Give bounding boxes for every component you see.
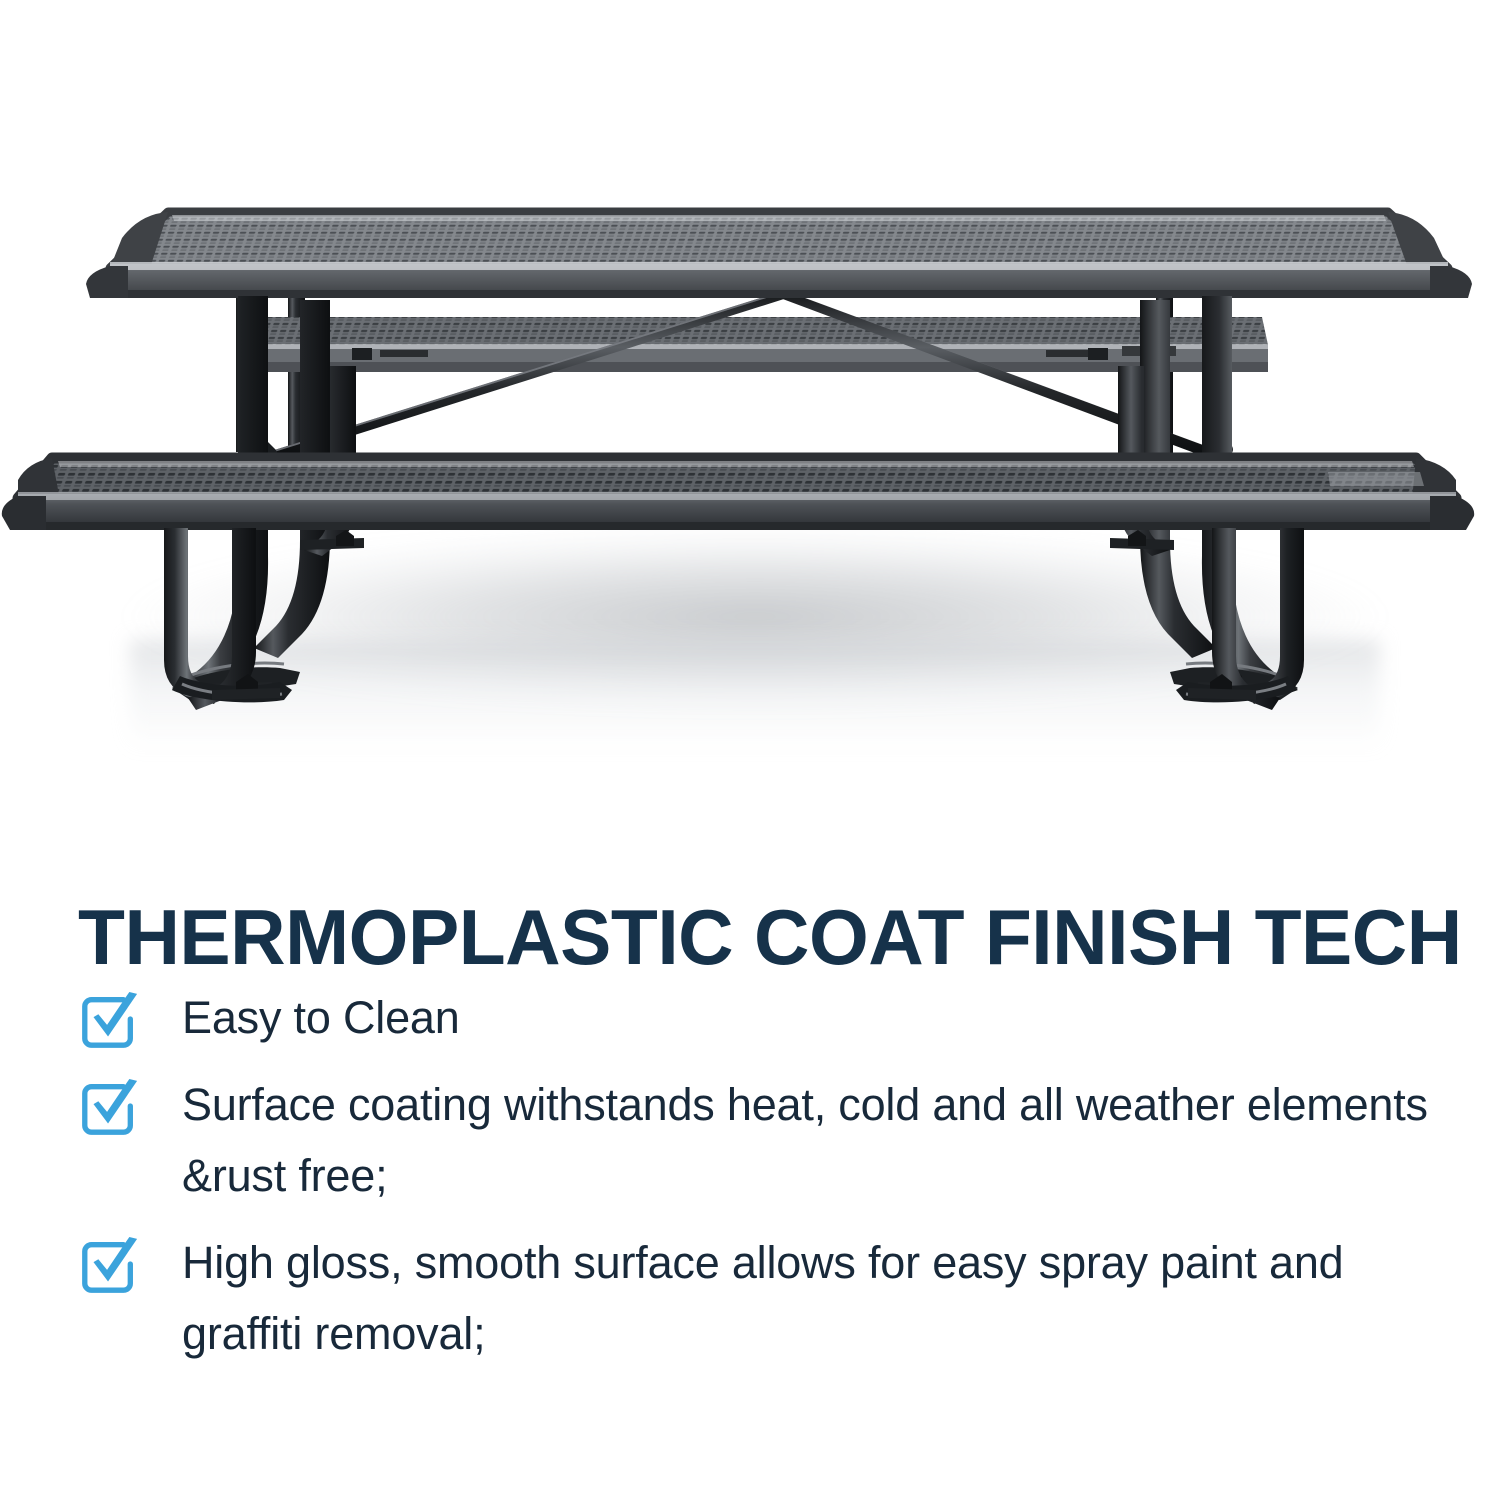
product-feature-page: THERMOPLASTIC COAT FINISH TECH Easy to C… xyxy=(0,0,1500,1500)
feature-check-cell xyxy=(78,1069,182,1139)
product-image-stage xyxy=(0,0,1500,820)
feature-check-cell xyxy=(78,982,182,1052)
checkbox-checked-icon xyxy=(78,1077,140,1139)
front-bench xyxy=(2,458,1474,530)
feature-item-2: Surface coating withstands heat, cold an… xyxy=(78,1069,1478,1211)
front-bench-legs xyxy=(164,528,1304,710)
picnic-table-illustration xyxy=(0,0,1500,820)
checkbox-checked-icon xyxy=(78,990,140,1052)
feature-item-3: High gloss, smooth surface allows for ea… xyxy=(78,1227,1478,1369)
feature-check-cell xyxy=(78,1227,182,1297)
feature-list: Easy to Clean Surface coating withstands… xyxy=(78,982,1478,1385)
cross-brace-assembly xyxy=(257,288,1233,460)
feature-text: Easy to Clean xyxy=(182,982,1472,1053)
page-title: THERMOPLASTIC COAT FINISH TECH xyxy=(78,898,1437,978)
feature-item-1: Easy to Clean xyxy=(78,982,1478,1053)
checkbox-checked-icon xyxy=(78,1235,140,1297)
feature-text: Surface coating withstands heat, cold an… xyxy=(182,1069,1472,1211)
feature-text: High gloss, smooth surface allows for ea… xyxy=(182,1227,1472,1369)
table-top xyxy=(86,212,1472,298)
rear-bench xyxy=(262,317,1268,372)
